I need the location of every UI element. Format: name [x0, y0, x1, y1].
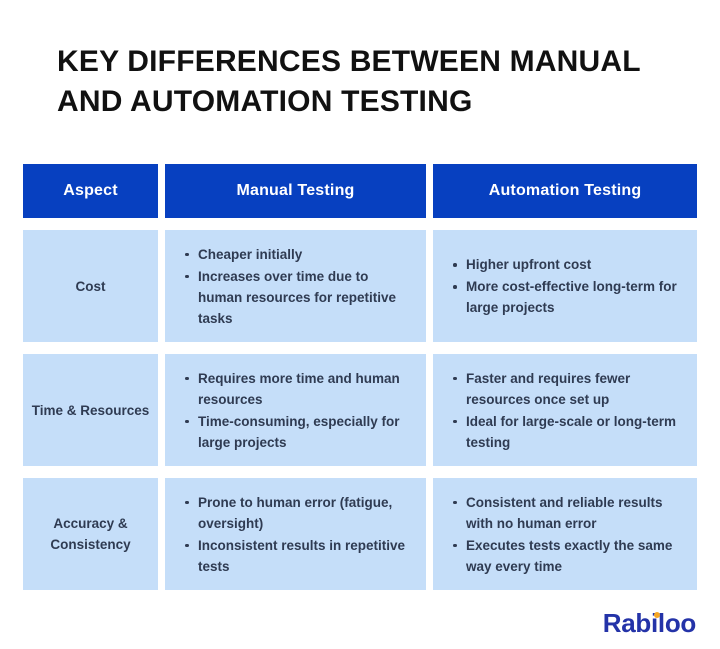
manual-testing-cell: Cheaper initially Increases over time du…: [165, 230, 426, 342]
page-title: KEY DIFFERENCES BETWEEN MANUAL AND AUTOM…: [57, 42, 677, 122]
table-row: Time & Resources Requires more time and …: [23, 354, 697, 466]
table-row: Cost Cheaper initially Increases over ti…: [23, 230, 697, 342]
logo-dot-icon: [654, 612, 660, 618]
list-item: More cost-effective long-term for large …: [451, 276, 685, 318]
aspect-label: Cost: [76, 276, 106, 297]
list-item: Higher upfront cost: [451, 254, 685, 275]
list-item: Cheaper initially: [183, 244, 414, 265]
manual-bullet-list: Requires more time and human resources T…: [183, 368, 414, 453]
rabiloo-logo-text: Rabiloo: [603, 609, 696, 637]
aspect-cell: Accuracy & Consistency: [23, 478, 158, 590]
list-item: Prone to human error (fatigue, oversight…: [183, 492, 414, 534]
aspect-cell: Time & Resources: [23, 354, 158, 466]
manual-testing-cell: Prone to human error (fatigue, oversight…: [165, 478, 426, 590]
rabiloo-logo: Rabiloo: [603, 609, 696, 637]
manual-bullet-list: Prone to human error (fatigue, oversight…: [183, 492, 414, 577]
page-title-line-2: AND AUTOMATION TESTING: [57, 82, 677, 122]
list-item: Requires more time and human resources: [183, 368, 414, 410]
automation-bullet-list: Higher upfront cost More cost-effective …: [451, 254, 685, 318]
aspect-label: Time & Resources: [32, 400, 150, 421]
manual-testing-cell: Requires more time and human resources T…: [165, 354, 426, 466]
header-label-manual-testing: Manual Testing: [236, 182, 354, 200]
list-item: Executes tests exactly the same way ever…: [451, 535, 685, 577]
table-row: Accuracy & Consistency Prone to human er…: [23, 478, 697, 590]
page-title-line-1: KEY DIFFERENCES BETWEEN MANUAL: [57, 42, 677, 82]
list-item: Consistent and reliable results with no …: [451, 492, 685, 534]
header-label-aspect: Aspect: [63, 182, 118, 200]
infographic-page: KEY DIFFERENCES BETWEEN MANUAL AND AUTOM…: [0, 0, 720, 649]
comparison-table: Aspect Manual Testing Automation Testing…: [23, 164, 697, 590]
automation-testing-cell: Faster and requires fewer resources once…: [433, 354, 697, 466]
list-item: Ideal for large-scale or long-term testi…: [451, 411, 685, 453]
automation-testing-cell: Higher upfront cost More cost-effective …: [433, 230, 697, 342]
list-item: Increases over time due to human resourc…: [183, 266, 414, 329]
list-item: Inconsistent results in repetitive tests: [183, 535, 414, 577]
header-cell-manual-testing: Manual Testing: [165, 164, 426, 218]
automation-bullet-list: Consistent and reliable results with no …: [451, 492, 685, 577]
automation-bullet-list: Faster and requires fewer resources once…: [451, 368, 685, 453]
list-item: Time-consuming, especially for large pro…: [183, 411, 414, 453]
list-item: Faster and requires fewer resources once…: [451, 368, 685, 410]
aspect-label: Accuracy & Consistency: [31, 513, 150, 555]
header-cell-automation-testing: Automation Testing: [433, 164, 697, 218]
header-label-automation-testing: Automation Testing: [489, 182, 642, 200]
automation-testing-cell: Consistent and reliable results with no …: [433, 478, 697, 590]
aspect-cell: Cost: [23, 230, 158, 342]
table-header-row: Aspect Manual Testing Automation Testing: [23, 164, 697, 218]
header-cell-aspect: Aspect: [23, 164, 158, 218]
manual-bullet-list: Cheaper initially Increases over time du…: [183, 244, 414, 329]
